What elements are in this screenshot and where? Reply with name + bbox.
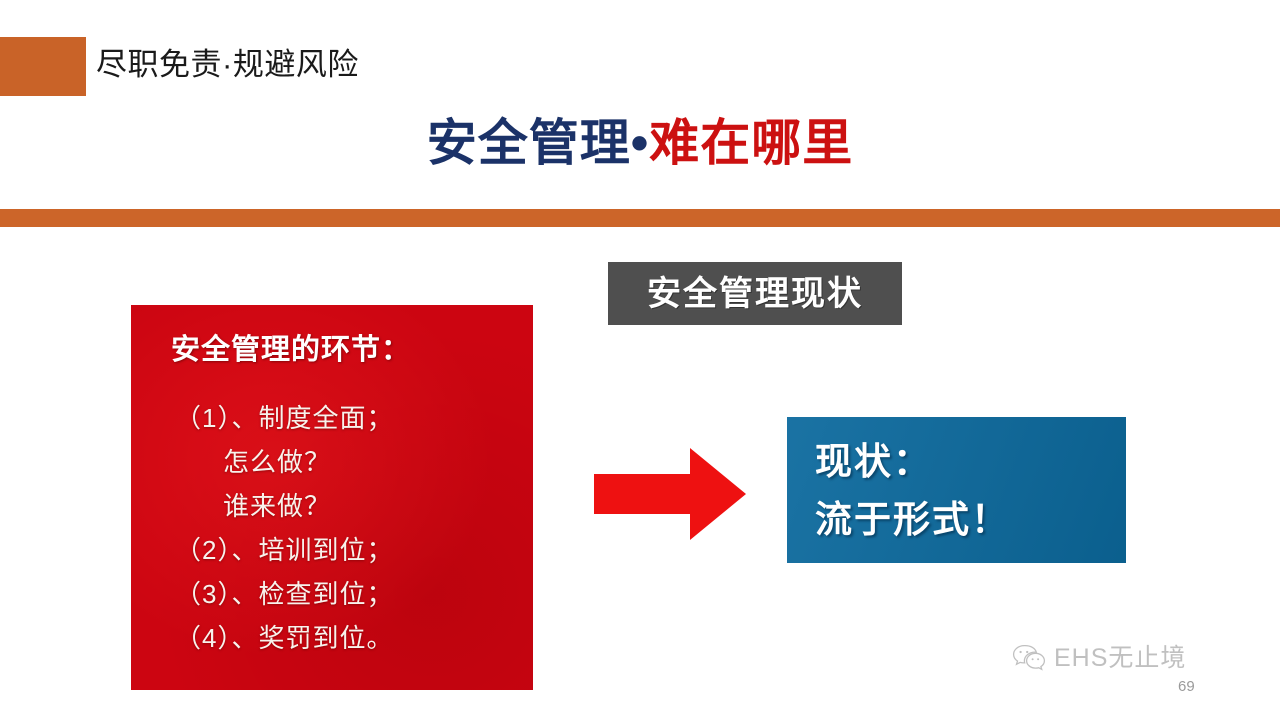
red-content-box: 安全管理的环节： （1）、制度全面； 怎么做？ 谁来做？ （2）、培训到位； （… bbox=[131, 305, 533, 690]
header-subtitle: 尽职免责·规避风险 bbox=[96, 42, 359, 88]
wechat-icon bbox=[1012, 644, 1046, 672]
watermark: EHS无止境 bbox=[1012, 644, 1186, 672]
list-item: （3）、检查到位； bbox=[175, 572, 533, 616]
page-title: 安全管理•难在哪里 bbox=[0, 110, 1280, 176]
page-title-primary: 安全管理• bbox=[427, 115, 650, 171]
red-box-heading: 安全管理的环节： bbox=[171, 333, 533, 368]
list-item: （2）、培训到位； bbox=[175, 528, 533, 572]
slide-canvas: 尽职免责·规避风险 安全管理•难在哪里 安全管理现状 安全管理的环节： （1）、… bbox=[0, 0, 1280, 720]
list-item: 怎么做？ bbox=[223, 440, 533, 484]
blue-conclusion-box: 现状： 流于形式！ bbox=[787, 417, 1126, 563]
blue-box-line-1: 现状： bbox=[815, 433, 1126, 491]
list-item: （1）、制度全面； bbox=[175, 396, 533, 440]
status-banner-label: 安全管理现状 bbox=[647, 277, 863, 311]
blue-box-line-2: 流于形式！ bbox=[815, 491, 1126, 549]
page-title-highlight: 难在哪里 bbox=[649, 115, 853, 171]
header-divider-rule bbox=[0, 209, 1280, 227]
list-item: 谁来做？ bbox=[223, 484, 533, 528]
red-box-item-list: （1）、制度全面； 怎么做？ 谁来做？ （2）、培训到位； （3）、检查到位； … bbox=[131, 396, 533, 660]
header-accent-swatch bbox=[0, 37, 86, 96]
right-arrow-icon bbox=[594, 446, 746, 542]
page-number: 69 bbox=[1178, 679, 1195, 694]
list-item: （4）、奖罚到位。 bbox=[175, 616, 533, 660]
watermark-label: EHS无止境 bbox=[1054, 646, 1186, 671]
status-banner: 安全管理现状 bbox=[608, 262, 902, 325]
